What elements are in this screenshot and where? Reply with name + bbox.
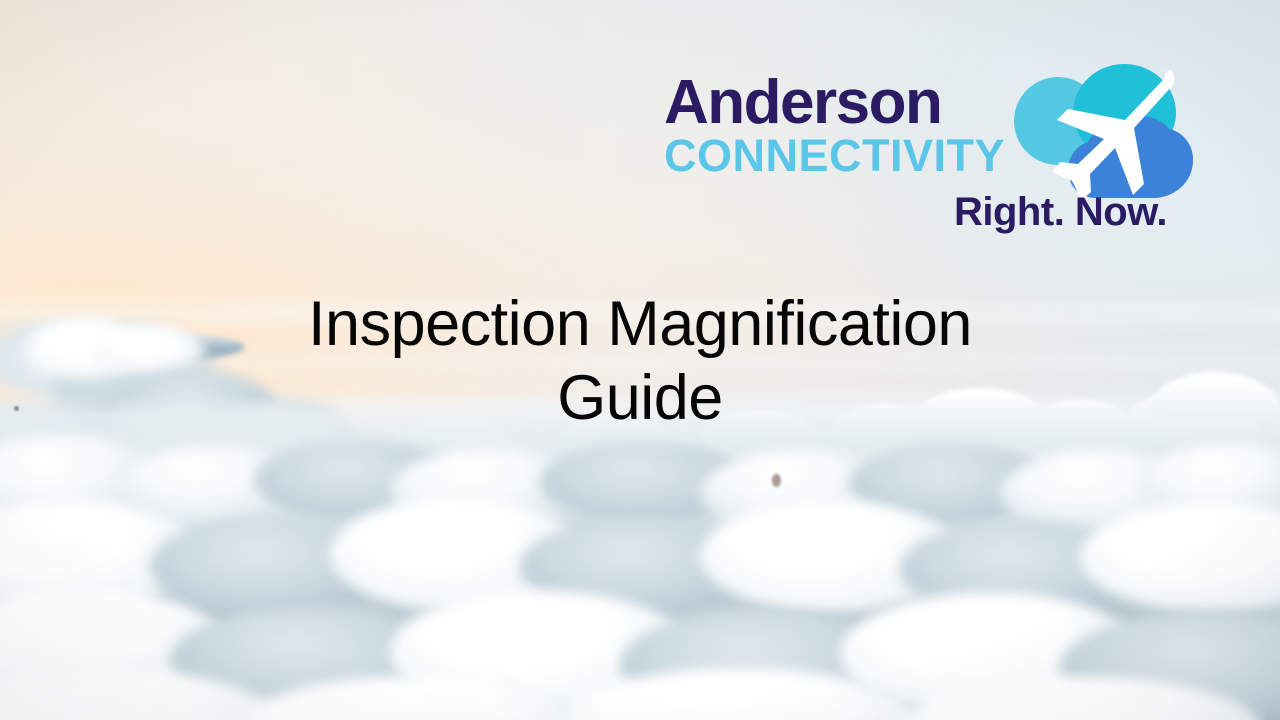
brand-tagline: Right. Now. bbox=[954, 190, 1167, 235]
slide-title-line-2: Guide bbox=[557, 363, 723, 433]
logo-wordmark: Anderson CONNECTIVITY bbox=[664, 74, 1036, 178]
slide-title-line-1: Inspection Magnification bbox=[308, 289, 972, 359]
brand-subtitle: CONNECTIVITY bbox=[664, 133, 1036, 178]
brand-name: Anderson bbox=[664, 74, 1036, 131]
company-logo: Anderson CONNECTIVITY Right. Now. bbox=[664, 62, 1204, 247]
presentation-slide: Anderson CONNECTIVITY Right. Now. Inspec… bbox=[0, 0, 1280, 720]
slide-title: Inspection Magnification Guide bbox=[0, 288, 1280, 435]
